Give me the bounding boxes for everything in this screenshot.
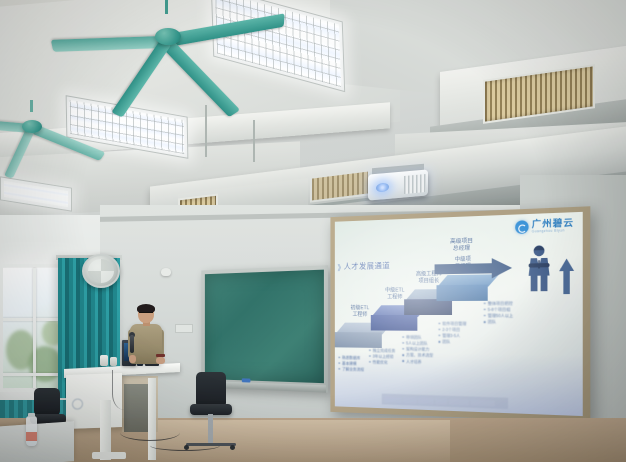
wall-sensor-icon — [161, 268, 171, 276]
bullet-item: 了解业务流程 — [338, 367, 364, 373]
bullet-item: 人才培养 — [402, 359, 433, 366]
projection-screen[interactable]: 广州碧云 Guangzhou Biyun 》 人才发展通道 初级ETL工程师 中… — [335, 212, 583, 416]
water-bottle-label — [26, 432, 37, 441]
bullet-list-4: 软件项目管理 2-3个项目 管理3-5人 团队 — [438, 321, 466, 346]
swirl-circle-logo-icon — [515, 220, 528, 234]
classroom-photo: 广州碧云 Guangzhou Biyun 》 人才发展通道 初级ETL工程师 中… — [0, 0, 626, 462]
slide-title: 人才发展通道 — [344, 260, 390, 272]
office-chair-left-back[interactable] — [34, 388, 60, 416]
drafting-chair-post — [208, 414, 213, 444]
cup[interactable] — [110, 357, 117, 366]
water-bottle[interactable] — [26, 416, 37, 446]
step-face-3 — [404, 299, 452, 315]
projection-screen-frame: 广州碧云 Guangzhou Biyun 》 人才发展通道 初级ETL工程师 中… — [330, 206, 590, 422]
bullet-item: 团队 — [484, 319, 513, 325]
duct-hanger-rod — [205, 105, 207, 157]
powerpoint-toolbar[interactable] — [382, 394, 508, 409]
step-face-1 — [335, 332, 382, 348]
bullet-list-5: 整体项目把控 5-8个项目组 管理50人以上 团队 — [484, 301, 513, 326]
lectern-logo-mark-icon — [72, 398, 83, 409]
step-face-2 — [371, 315, 418, 331]
presenter — [128, 305, 164, 377]
step-face-4 — [437, 285, 488, 302]
handheld-microphone[interactable] — [130, 335, 134, 353]
ceiling-fan-rod-2 — [30, 100, 33, 112]
projector-vent-icon — [404, 174, 426, 194]
blue-chalk[interactable] — [242, 378, 251, 382]
logo-english-text: Guangzhou Biyun — [532, 229, 574, 234]
water-bottle-cap — [28, 413, 35, 417]
ceiling-fan-rod — [165, 0, 168, 14]
businessman-silhouette-icon — [525, 244, 552, 292]
presenter-left-hand — [129, 355, 136, 363]
duct-hanger-rod — [253, 120, 255, 162]
wall-sign — [175, 324, 193, 333]
company-logo: 广州碧云 Guangzhou Biyun — [515, 218, 574, 234]
bullet-item: 团队 — [438, 339, 466, 345]
chair-caster — [230, 445, 235, 450]
chalkboard-surface[interactable] — [205, 270, 324, 384]
front-desk — [0, 421, 74, 462]
bullet-list-1: 熟悉数据库 基本建模 了解业务流程 — [338, 355, 364, 373]
wall-fan-blades-icon — [88, 259, 114, 283]
cup[interactable] — [100, 355, 108, 366]
floor-cable — [150, 440, 220, 451]
bullet-list-3: 带领团队 5人以上团队 架构设计能力 方案、技术选型 人才培养 — [402, 335, 433, 366]
arrow-label: 高级项目总经理 — [450, 238, 473, 253]
ceiling-fan-hub — [155, 28, 181, 45]
ceiling-fan-hub-2 — [22, 120, 42, 133]
bullet-list-2: 独立完成任务 3年以上经验 性能优化 — [369, 348, 395, 366]
lectern-base — [92, 452, 126, 459]
presenter-right-hand — [156, 357, 165, 364]
lectern-leg — [100, 400, 111, 460]
floor-cable — [120, 424, 180, 441]
progress-arrow-icon — [435, 258, 513, 280]
up-arrow-icon — [559, 258, 574, 294]
hanging-cable — [112, 370, 143, 410]
glasses-icon — [139, 312, 153, 316]
bullet-item: 性能优化 — [369, 360, 395, 366]
drafting-chair-back[interactable] — [196, 372, 226, 408]
